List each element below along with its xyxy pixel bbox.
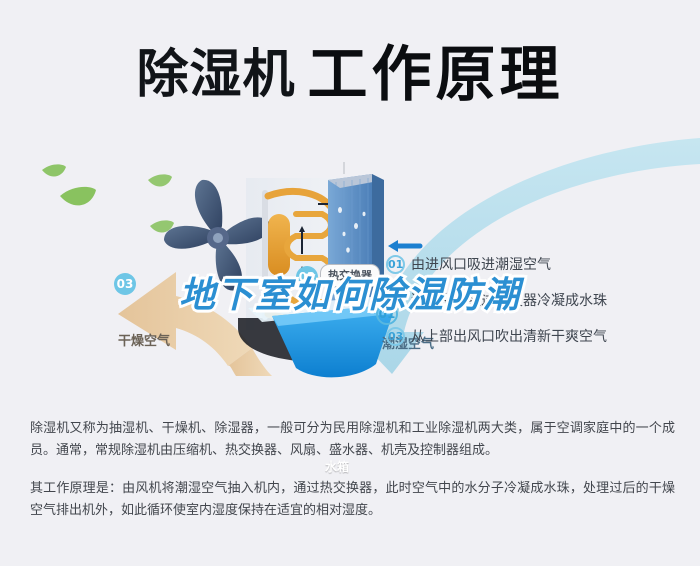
page-title-part1: 除湿机 xyxy=(136,45,295,105)
overlay-headline: 地下室如何除湿防潮 xyxy=(0,266,700,318)
legend-item-03: 03 从上部出风口吹出清新干爽空气 xyxy=(386,322,686,350)
page-title-part2: 工作原理 xyxy=(308,40,564,110)
paragraph-2: 其工作原理是：由风机将潮湿空气抽入机内，通过热交换器，此时空气中的水分子冷凝成水… xyxy=(30,478,675,522)
page-root: 除湿机工作原理 xyxy=(0,0,700,566)
leaf-icons xyxy=(42,164,174,232)
body-copy: 除湿机又称为抽湿机、干燥机、除湿器，一般可分为民用除湿机和工业除湿机两大类，属于… xyxy=(30,418,675,522)
page-title: 除湿机工作原理 xyxy=(0,26,700,113)
legend-number-03: 03 xyxy=(386,327,405,346)
paragraph-1: 除湿机又称为抽湿机、干燥机、除湿器，一般可分为民用除湿机和工业除湿机两大类，属于… xyxy=(30,418,675,462)
legend-text-03: 从上部出风口吹出清新干爽空气 xyxy=(411,326,607,346)
dry-air-label: 干燥空气 xyxy=(118,330,170,349)
